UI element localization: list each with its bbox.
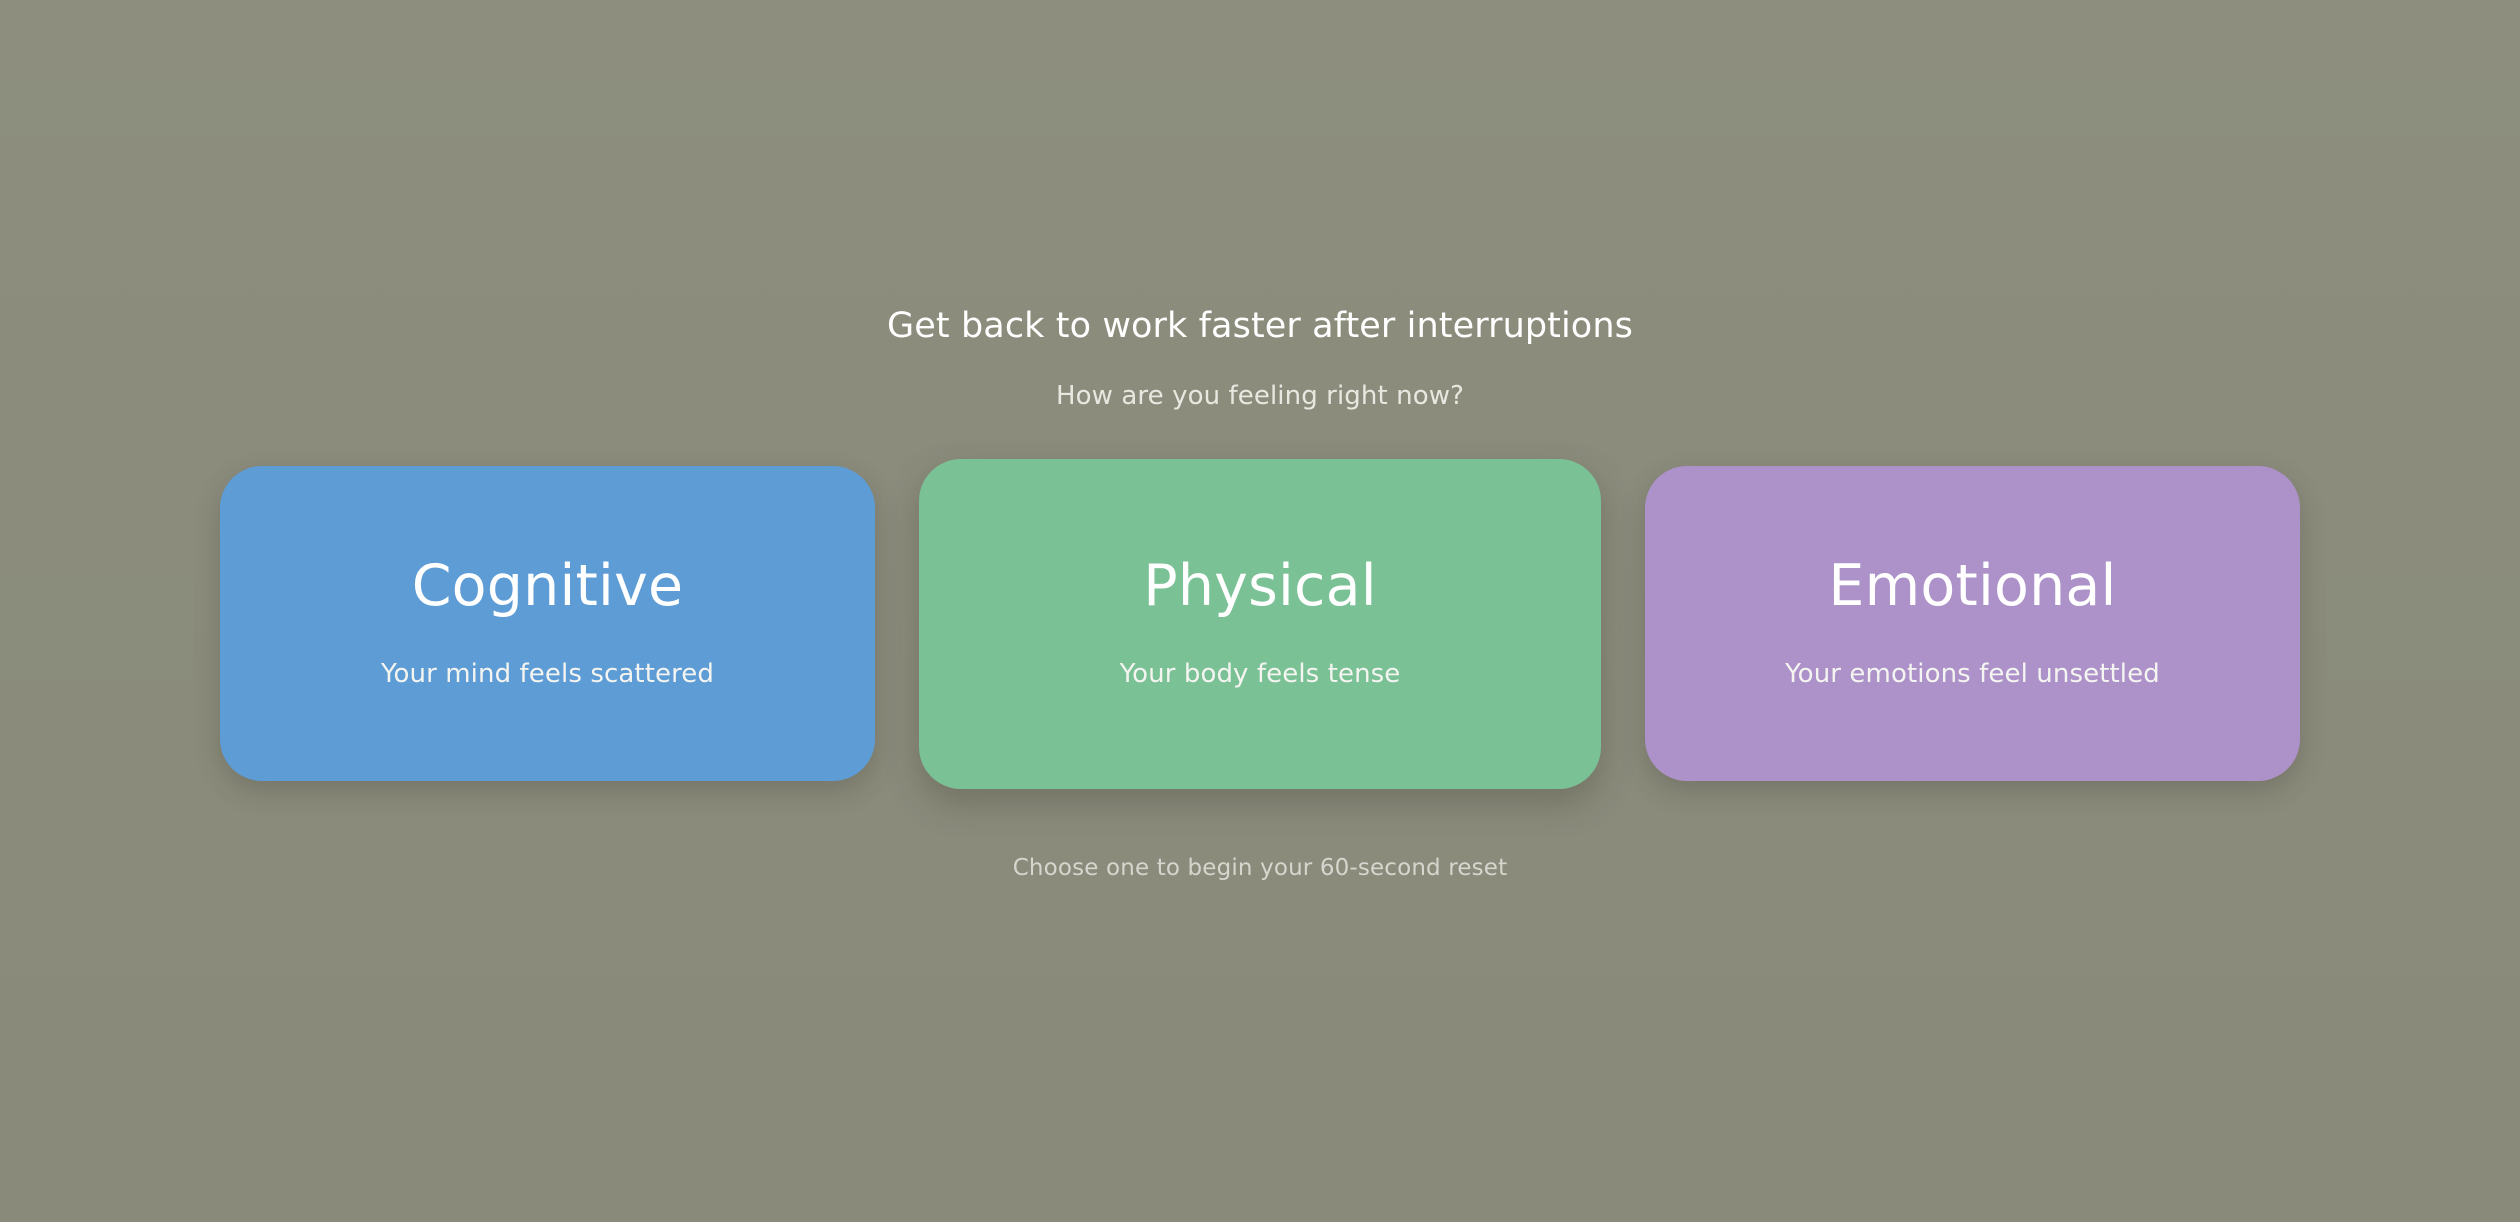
mode-card-description: Your emotions feel unsettled [1785,659,2160,690]
mode-card-list: Cognitive Your mind feels scattered Phys… [220,459,2300,789]
mode-card-emotional[interactable]: Emotional Your emotions feel unsettled [1645,466,2300,781]
instruction-hint: Choose one to begin your 60-second reset [1013,855,1508,881]
mode-card-title: Physical [1143,557,1376,617]
page-title: Get back to work faster after interrupti… [887,305,1633,347]
content-stage: Get back to work faster after interrupti… [0,305,2520,880]
mode-card-physical[interactable]: Physical Your body feels tense [919,459,1601,789]
mode-card-title: Cognitive [412,557,684,617]
page-subtitle: How are you feeling right now? [1056,381,1464,412]
mode-card-title: Emotional [1828,557,2116,617]
mode-card-cognitive[interactable]: Cognitive Your mind feels scattered [220,466,875,781]
mode-card-description: Your mind feels scattered [381,659,714,690]
reset-chooser-screen: Get back to work faster after interrupti… [0,0,2520,1222]
mode-card-description: Your body feels tense [1120,659,1401,690]
